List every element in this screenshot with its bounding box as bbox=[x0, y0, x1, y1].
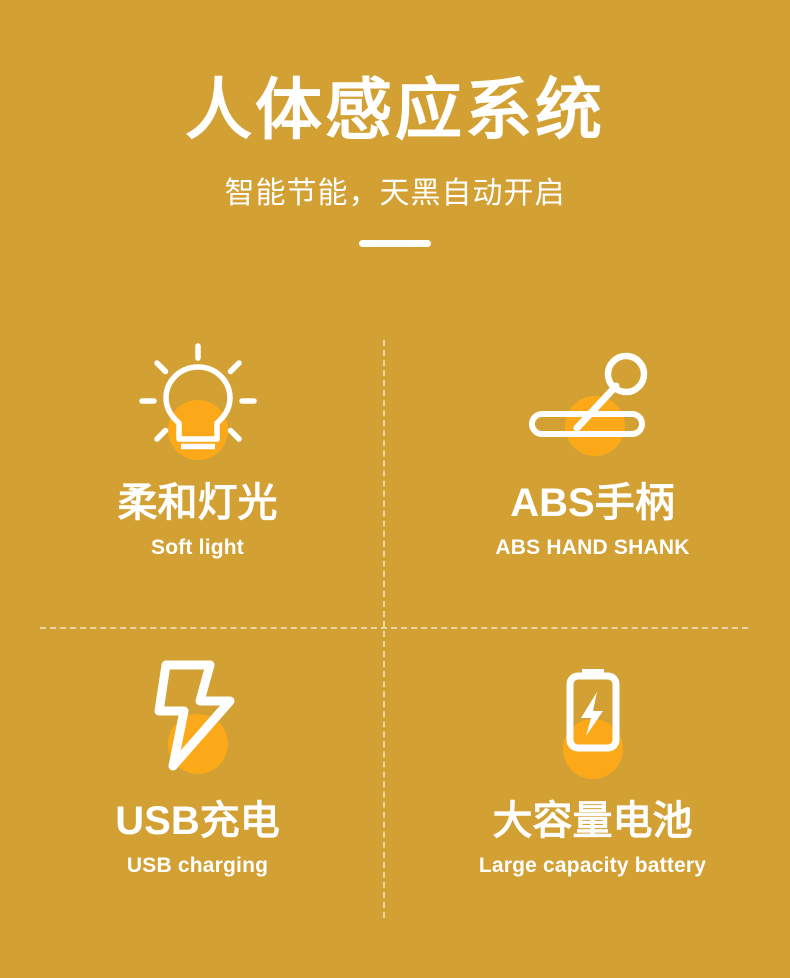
feature-item-usb-charging: USB充电 USB charging bbox=[0, 648, 395, 948]
feature-label-cn: 柔和灯光 bbox=[0, 478, 395, 528]
feature-item-abs-handle: ABS手柄 ABS HAND SHANK bbox=[395, 330, 790, 630]
lightning-bolt-icon-glyph bbox=[118, 656, 278, 786]
page-subtitle: 智能节能，天黑自动开启 bbox=[0, 150, 790, 212]
feature-label-en: Soft light bbox=[0, 534, 395, 562]
feature-label-cn: ABS手柄 bbox=[395, 478, 790, 528]
battery-icon-glyph bbox=[513, 656, 673, 786]
page-title: 人体感应系统 bbox=[0, 0, 790, 150]
feature-label-cn: 大容量电池 bbox=[395, 796, 790, 846]
feature-label-en: USB charging bbox=[0, 852, 395, 880]
feature-item-battery: 大容量电池 Large capacity battery bbox=[395, 648, 790, 948]
battery-icon bbox=[513, 656, 673, 786]
promo-banner: 人体感应系统 智能节能，天黑自动开启 bbox=[0, 0, 790, 978]
banner-header: 人体感应系统 智能节能，天黑自动开启 bbox=[0, 0, 790, 247]
feature-item-soft-light: 柔和灯光 Soft light bbox=[0, 330, 395, 630]
lightbulb-icon-glyph bbox=[118, 338, 278, 468]
abs-handle-icon bbox=[513, 338, 673, 468]
feature-label-en: ABS HAND SHANK bbox=[395, 534, 790, 562]
lightbulb-icon bbox=[118, 338, 278, 468]
feature-grid: 柔和灯光 Soft light ABS手柄 ABS HAND SHANK bbox=[0, 330, 790, 950]
feature-label-cn: USB充电 bbox=[0, 796, 395, 846]
abs-handle-icon-glyph bbox=[513, 338, 673, 468]
title-divider bbox=[359, 240, 431, 247]
feature-label-en: Large capacity battery bbox=[395, 852, 790, 880]
lightning-bolt-icon bbox=[118, 656, 278, 786]
